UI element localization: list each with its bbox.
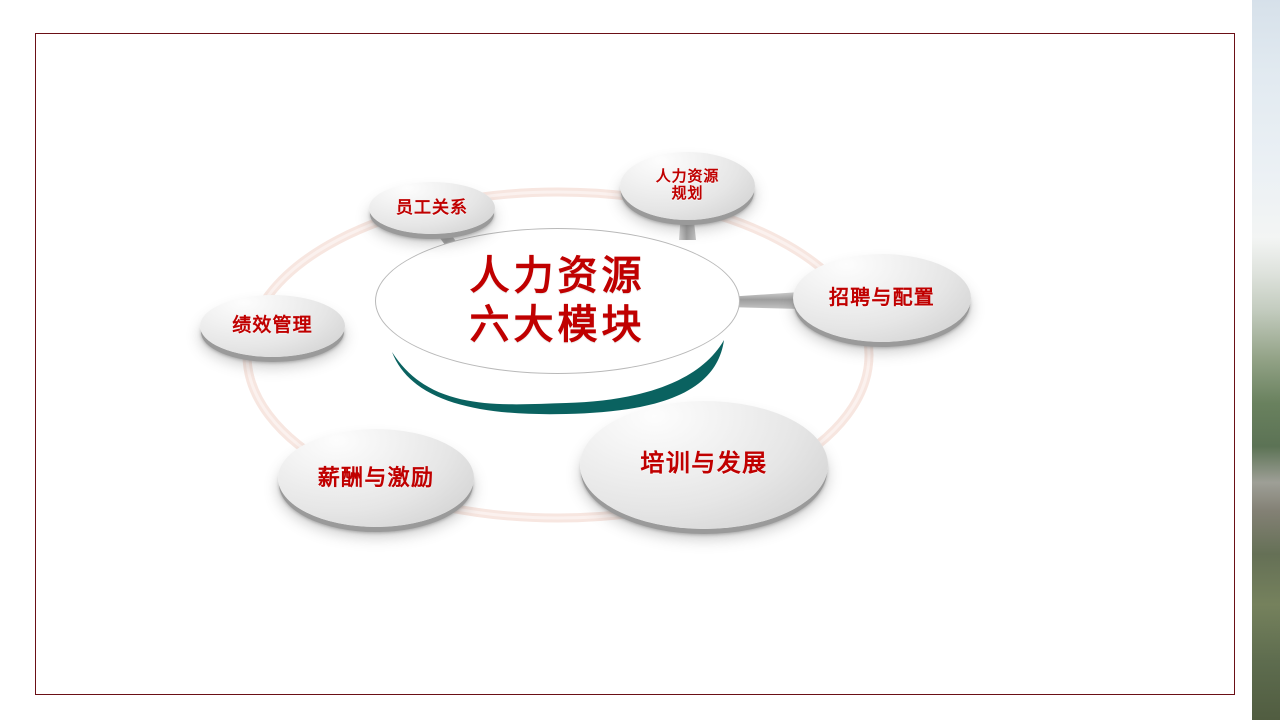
node-employee-relations-label: 员工关系 xyxy=(396,198,468,218)
node-performance-label: 绩效管理 xyxy=(232,315,313,337)
center-node-label: 人力资源 六大模块 xyxy=(470,252,646,350)
node-compensation[interactable]: 薪酬与激励 xyxy=(278,429,474,527)
center-node[interactable]: 人力资源 六大模块 xyxy=(375,228,740,374)
node-compensation-label: 薪酬与激励 xyxy=(318,465,435,490)
node-employee-relations[interactable]: 员工关系 xyxy=(369,182,495,234)
node-training[interactable]: 培训与发展 xyxy=(580,401,828,529)
node-hr-planning-label: 人力资源 规划 xyxy=(656,169,720,204)
node-hr-planning[interactable]: 人力资源 规划 xyxy=(620,152,755,220)
slide-root: 人力资源 六大模块 人力资源 规划 员工关系 绩效管理 招聘与配置 薪酬与激励 … xyxy=(0,0,1280,720)
node-training-label: 培训与发展 xyxy=(640,451,767,479)
node-recruitment-label: 招聘与配置 xyxy=(829,287,935,310)
node-recruitment[interactable]: 招聘与配置 xyxy=(793,254,971,342)
node-performance[interactable]: 绩效管理 xyxy=(200,295,345,357)
